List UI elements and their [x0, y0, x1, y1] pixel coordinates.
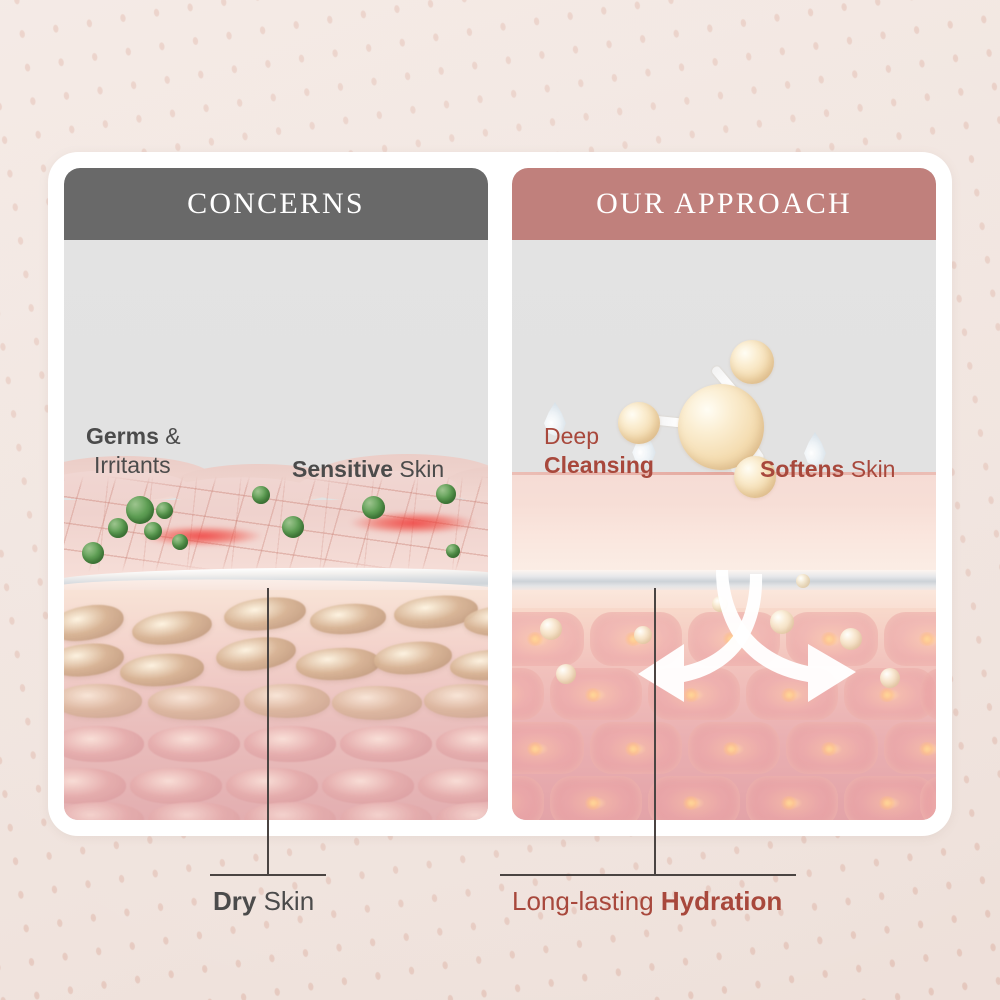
skin-cell [148, 686, 240, 720]
cell-glow [682, 796, 700, 810]
germ-icon [144, 522, 162, 540]
caption-dry-strong: Dry [213, 886, 256, 916]
germ-icon [282, 516, 304, 538]
comparison-card: CONCERNS [48, 152, 952, 836]
panel-approach: OUR APPROACH [512, 168, 936, 820]
label-sensitive-strong: Sensitive [292, 456, 393, 482]
germ-icon [362, 496, 385, 519]
germ-icon [82, 542, 104, 564]
skin-cell [64, 684, 142, 718]
skin-cell [244, 726, 336, 762]
label-germs-irritants: Germs & Irritants [86, 422, 181, 481]
moisture-bubble [556, 664, 576, 684]
germ-icon [156, 502, 173, 519]
label-deep-cleansing: Deep Cleansing [544, 422, 654, 481]
epidermis-layer [512, 472, 936, 576]
cell-glow [722, 742, 740, 756]
label-irritants: Irritants [86, 451, 181, 480]
cell-glow [584, 688, 602, 702]
skin-cell [512, 722, 584, 774]
panel-concerns-title: CONCERNS [187, 187, 365, 221]
label-softens-strong: Softens [760, 456, 844, 482]
label-germs-rest: & [159, 423, 181, 449]
pointer-line-hydration-horizontal [500, 874, 796, 876]
cell-glow [918, 742, 936, 756]
poster-canvas: CONCERNS [0, 0, 1000, 1000]
label-sensitive-skin: Sensitive Skin [292, 455, 444, 484]
label-cleansing-strong: Cleansing [544, 452, 654, 478]
cell-glow [584, 796, 602, 810]
skin-cell [332, 686, 422, 720]
cell-glow [780, 796, 798, 810]
label-deep: Deep [544, 422, 654, 451]
cell-glow [624, 742, 642, 756]
germ-icon [126, 496, 154, 524]
pointer-line-dry-skin-horizontal [210, 874, 326, 876]
panel-concerns-header: CONCERNS [64, 168, 488, 240]
germ-icon [252, 486, 270, 504]
caption-hydration-strong: Hydration [661, 886, 782, 916]
moisture-bubble [540, 618, 562, 640]
skin-cell [130, 768, 222, 804]
panel-concerns-body: Germs & Irritants Sensitive Skin [64, 240, 488, 820]
label-sensitive-rest: Skin [393, 456, 444, 482]
panel-approach-title: OUR APPROACH [596, 187, 852, 221]
skin-cell [148, 726, 240, 762]
pointer-line-hydration-vertical [654, 588, 656, 876]
molecule-node [730, 340, 774, 384]
label-germs-strong: Germs [86, 423, 159, 449]
germ-icon [108, 518, 128, 538]
germ-icon [436, 484, 456, 504]
skin-cell [244, 684, 330, 718]
panel-approach-body: Deep Cleansing Softens Skin [512, 240, 936, 820]
cell-glow [526, 742, 544, 756]
arrow-right [694, 566, 936, 714]
skin-cell [340, 726, 432, 762]
germ-icon [446, 544, 460, 558]
caption-dry-rest: Skin [256, 886, 314, 916]
panel-concerns: CONCERNS [64, 168, 488, 820]
caption-hydration-lead: Long-lasting [512, 886, 661, 916]
cell-glow [820, 742, 838, 756]
pointer-line-dry-skin-vertical [267, 588, 269, 876]
germ-icon [172, 534, 188, 550]
label-softens-skin: Softens Skin [760, 455, 895, 484]
label-softens-rest: Skin [844, 456, 895, 482]
skin-cell [322, 768, 414, 804]
caption-dry-skin: Dry Skin [213, 886, 314, 917]
caption-hydration: Long-lasting Hydration [512, 886, 782, 917]
skin-cell [226, 768, 318, 804]
panel-approach-header: OUR APPROACH [512, 168, 936, 240]
cell-glow [878, 796, 896, 810]
